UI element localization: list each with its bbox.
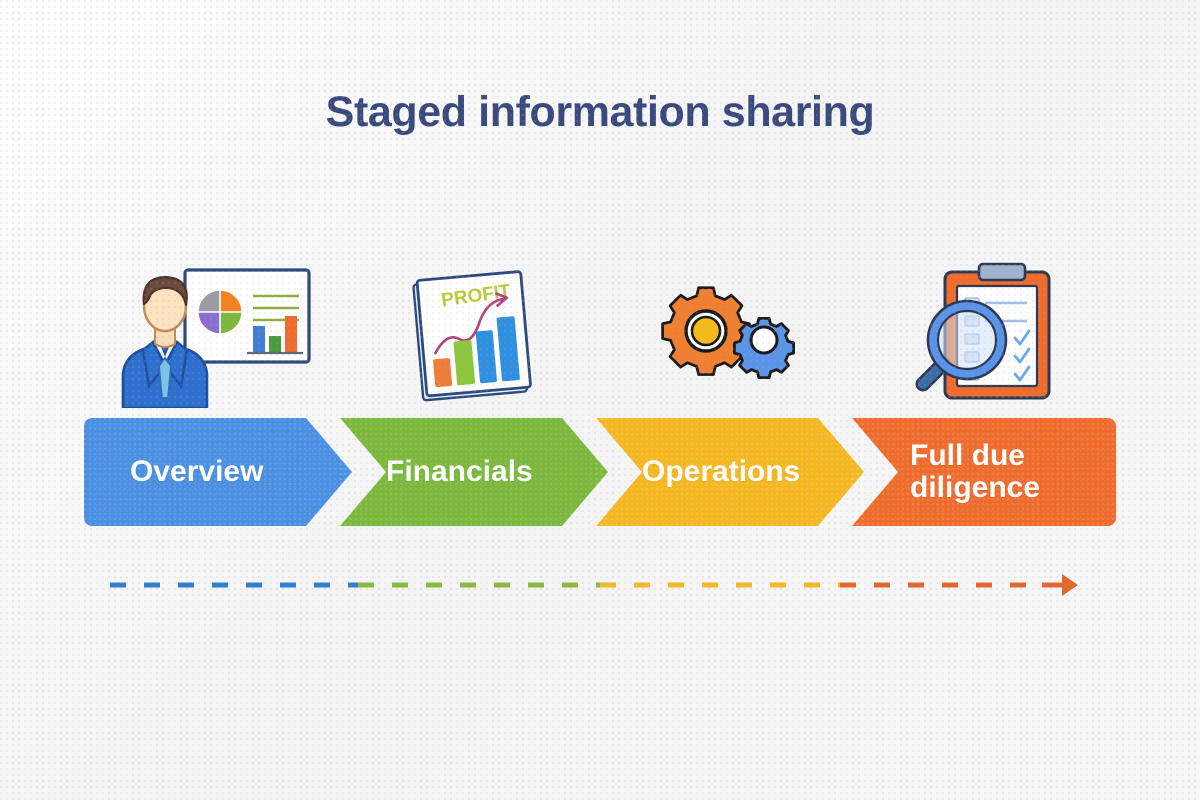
presenter-with-chart-board-icon	[113, 258, 313, 408]
stage-icon-row: PROFIT	[84, 258, 1116, 408]
stage-label-overview: Overview	[84, 456, 263, 488]
stage-icon-slot-financials: PROFIT	[342, 258, 600, 408]
clipboard-magnifier-icon	[907, 258, 1067, 408]
stage-chevron-full-due-diligence[interactable]: Full due diligence	[852, 418, 1116, 526]
stage-icon-slot-overview	[84, 258, 342, 408]
stage-label-line-2: diligence	[910, 471, 1040, 504]
stage-label-full-due-diligence: Full due diligence	[852, 440, 1040, 505]
staged-progress-dashed-arrow	[110, 565, 1090, 605]
stage-chevron-overview[interactable]: Overview	[84, 418, 354, 526]
stage-chevron-financials[interactable]: Financials	[340, 418, 610, 526]
stage-label-line-1: Full due	[910, 439, 1025, 472]
slide-canvas: Staged information sharing	[0, 0, 1200, 800]
arrowhead-icon	[1042, 574, 1078, 596]
stage-chevron-band: Overview Financials Operations	[84, 418, 1116, 526]
stage-icon-slot-full-due-diligence	[858, 258, 1116, 408]
page-title: Staged information sharing	[0, 88, 1200, 137]
gears-icon	[644, 258, 814, 408]
profit-report-chart-icon: PROFIT	[401, 258, 541, 408]
stage-label-operations: Operations	[596, 456, 800, 488]
stage-chevron-operations[interactable]: Operations	[596, 418, 866, 526]
stage-label-financials: Financials	[340, 456, 533, 488]
stage-icon-slot-operations	[600, 258, 858, 408]
